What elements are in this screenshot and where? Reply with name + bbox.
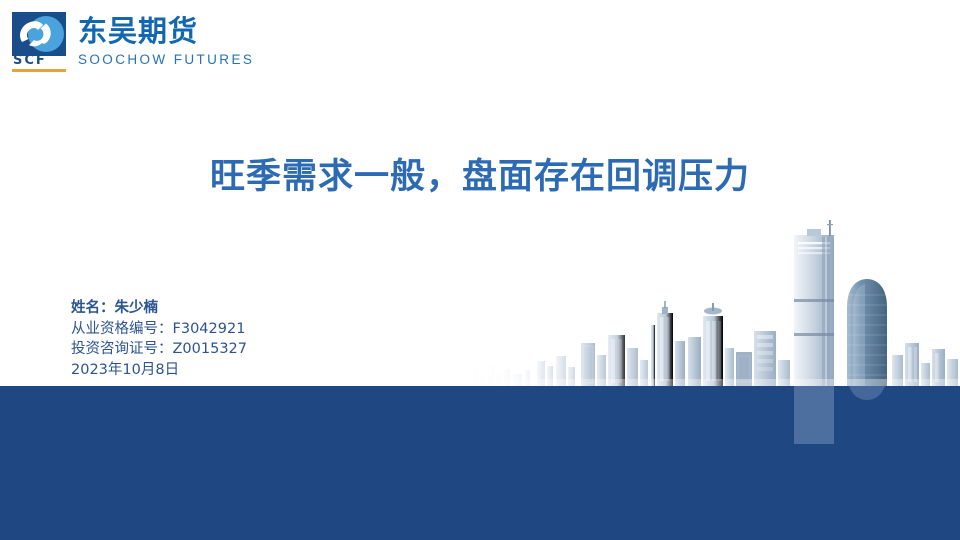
page-title: 旺季需求一般，盘面存在回调压力 [0,155,960,199]
logo-scf-text: SCF [13,54,65,68]
brand-name-en: SOOCHOW FUTURES [78,51,254,69]
logo-underline-accent [12,69,66,72]
cityscape-reflection-svg [455,386,960,464]
consulting-license-row: 投资咨询证号：Z0015327 [71,339,247,360]
cityscape-reflection [455,386,960,464]
main-skyscraper [794,220,834,386]
author-info-block: 姓名：朱少楠 从业资格编号：F3042921 投资咨询证号：Z0015327 2… [71,298,247,380]
brand-text-group: 东吴期货 SOOCHOW FUTURES [78,12,254,69]
round-tower [847,279,887,386]
scf-logo-icon: SCF [12,12,66,74]
author-name-row: 姓名：朱少楠 [71,298,247,319]
practice-license-row: 从业资格编号：F3042921 [71,319,247,340]
company-logo: SCF 东吴期货 SOOCHOW FUTURES [12,12,254,74]
cityscape-illustration [455,215,960,387]
title-slide: SCF 东吴期货 SOOCHOW FUTURES [0,0,960,540]
cityscape-svg [455,215,960,387]
logo-chainlink-icon [12,12,66,56]
date-row: 2023年10月8日 [71,360,247,381]
brand-name-cn: 东吴期货 [78,14,254,48]
